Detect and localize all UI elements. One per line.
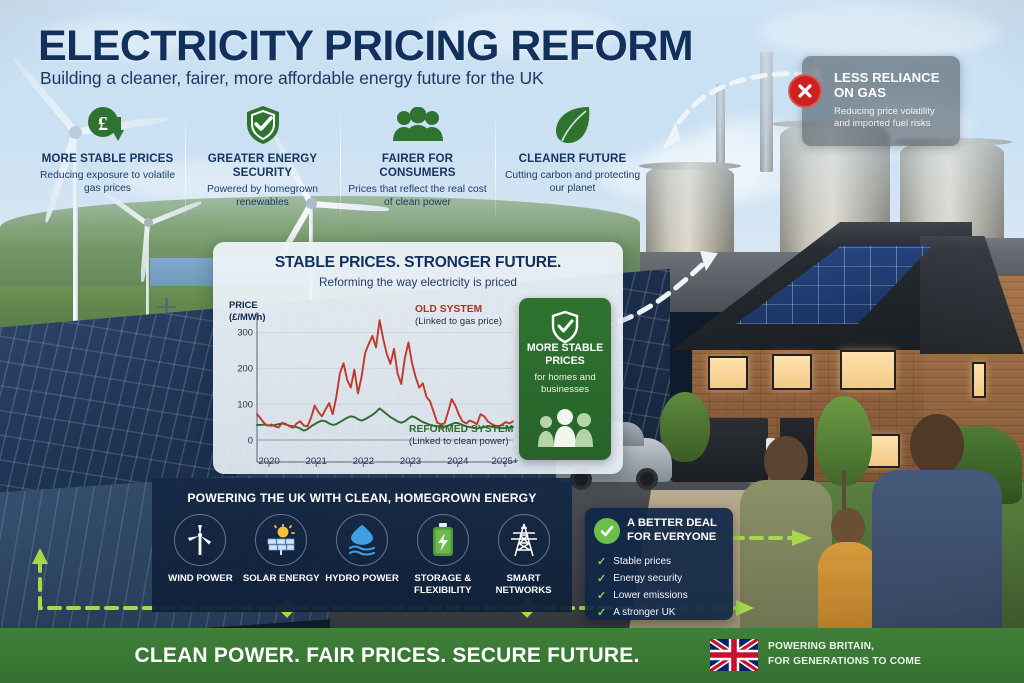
- benefit-title: FAIRER FOR CONSUMERS: [346, 152, 489, 180]
- deal-item-label: Stable prices: [613, 556, 671, 567]
- list-item: ✓Energy security: [597, 570, 727, 587]
- benefit-card-energy-security[interactable]: GREATER ENERGY SECURITY Powered by homeg…: [185, 103, 340, 228]
- chart-y-tick: 0: [248, 435, 253, 446]
- chart-x-tick: 2025+: [492, 456, 519, 467]
- leaf-icon: [501, 103, 644, 147]
- page-subtitle: Building a cleaner, fairer, more afforda…: [40, 68, 544, 89]
- chart-title: STABLE PRICES. STRONGER FUTURE.: [213, 254, 623, 272]
- gas-callout-title: LESS RELIANCE ON GAS: [834, 70, 952, 100]
- power-item-hydro[interactable]: HYDRO POWER: [322, 514, 403, 596]
- benefit-title: MORE STABLE PRICES: [36, 152, 179, 166]
- deal-list: ✓Stable prices ✓Energy security ✓Lower e…: [597, 553, 727, 621]
- deal-item-label: A stronger UK: [613, 607, 675, 618]
- power-item-label: STORAGE & FLEXIBILITY: [402, 573, 483, 596]
- gas-callout-desc: Reducing price volatility and imported f…: [834, 106, 953, 131]
- chart-x-tick: 2021: [306, 456, 327, 467]
- people-group-icon: [346, 103, 489, 147]
- chart-plot-area: 0100200300202020212022202320242025+: [257, 318, 513, 440]
- chart-panel: STABLE PRICES. STRONGER FUTURE. Reformin…: [213, 242, 623, 474]
- family-icon: [535, 409, 595, 452]
- power-item-label: SMART NETWORKS: [483, 573, 564, 596]
- chart-y-tick: 300: [237, 327, 253, 338]
- power-item-label: SOLAR ENERGY: [241, 573, 322, 585]
- benefit-card-fairer-consumers[interactable]: FAIRER FOR CONSUMERS Prices that reflect…: [340, 103, 495, 228]
- infographic-root: ELECTRICITY PRICING REFORM Building a cl…: [0, 0, 1024, 683]
- deal-item-label: Energy security: [613, 573, 682, 584]
- power-item-wind[interactable]: WIND POWER: [160, 514, 241, 596]
- check-icon: ✓: [597, 606, 606, 619]
- powering-uk-bar: POWERING THE UK WITH CLEAN, HOMEGROWN EN…: [152, 478, 572, 612]
- check-icon: ✓: [597, 555, 606, 568]
- power-item-networks[interactable]: SMART NETWORKS: [483, 514, 564, 596]
- callout-desc: for homes and businesses: [519, 372, 611, 396]
- benefit-desc: Prices that reflect the real cost of cle…: [346, 183, 489, 209]
- benefit-card-cleaner-future[interactable]: CLEANER FUTURE Cutting carbon and protec…: [495, 103, 650, 228]
- union-jack-icon: [710, 639, 758, 671]
- check-icon: ✓: [597, 589, 606, 602]
- banner-side-text: POWERING BRITAIN, FOR GENERATIONS TO COM…: [768, 640, 921, 670]
- list-item: ✓Stable prices: [597, 553, 727, 570]
- better-deal-panel[interactable]: A BETTER DEAL FOR EVERYONE ✓Stable price…: [585, 508, 733, 620]
- legend-reformed-system: REFORMED SYSTEM (Linked to clean power): [409, 424, 514, 446]
- banner-side-line1: POWERING BRITAIN,: [768, 640, 921, 655]
- pylon-icon: [498, 514, 550, 566]
- benefit-desc: Powered by homegrown renewables: [191, 183, 334, 209]
- banner-side-line2: FOR GENERATIONS TO COME: [768, 655, 921, 670]
- deal-item-label: Lower emissions: [613, 590, 687, 601]
- power-item-label: WIND POWER: [160, 573, 241, 585]
- water-drop-icon: [336, 514, 388, 566]
- power-item-storage[interactable]: STORAGE & FLEXIBILITY: [402, 514, 483, 596]
- red-x-icon: [788, 74, 822, 108]
- less-reliance-on-gas-callout[interactable]: LESS RELIANCE ON GAS Reducing price vola…: [802, 56, 960, 146]
- bottom-banner: CLEAN POWER. FAIR PRICES. SECURE FUTURE.…: [0, 628, 1024, 683]
- list-item: ✓A stronger UK: [597, 604, 727, 621]
- page-title: ELECTRICITY PRICING REFORM: [38, 22, 693, 71]
- chart-y-tick: 100: [237, 399, 253, 410]
- power-bar-title: POWERING THE UK WITH CLEAN, HOMEGROWN EN…: [152, 491, 572, 505]
- chart-x-tick: 2020: [258, 456, 279, 467]
- benefit-desc: Cutting carbon and protecting our planet: [501, 169, 644, 195]
- chart-x-tick: 2023: [400, 456, 421, 467]
- shield-check-icon: [191, 103, 334, 147]
- benefits-row: £ MORE STABLE PRICES Reducing exposure t…: [30, 103, 650, 228]
- wind-turbine-icon: [174, 514, 226, 566]
- legend-old-system: OLD SYSTEM (Linked to gas price): [415, 304, 502, 326]
- list-item: ✓Lower emissions: [597, 587, 727, 604]
- check-icon: ✓: [597, 572, 606, 585]
- benefit-title: GREATER ENERGY SECURITY: [191, 152, 334, 180]
- power-item-label: HYDRO POWER: [322, 573, 403, 585]
- solar-panel-icon: [255, 514, 307, 566]
- battery-icon: [417, 514, 469, 566]
- chart-y-tick: 200: [237, 363, 253, 374]
- more-stable-prices-callout[interactable]: MORE STABLE PRICES for homes and busines…: [519, 298, 611, 460]
- chart-x-tick: 2022: [353, 456, 374, 467]
- benefit-title: CLEANER FUTURE: [501, 152, 644, 166]
- benefit-desc: Reducing exposure to volatile gas prices: [36, 169, 179, 195]
- chart-x-tick: 2024: [447, 456, 468, 467]
- benefit-card-stable-prices[interactable]: £ MORE STABLE PRICES Reducing exposure t…: [30, 103, 185, 228]
- power-item-solar[interactable]: SOLAR ENERGY: [241, 514, 322, 596]
- deal-panel-title: A BETTER DEAL FOR EVERYONE: [627, 517, 727, 544]
- pound-down-icon: £: [36, 103, 179, 147]
- shield-check-icon: [550, 310, 580, 349]
- svg-text:£: £: [98, 113, 108, 135]
- chart-subtitle: Reforming the way electricity is priced: [213, 275, 623, 289]
- green-check-icon: [594, 518, 620, 544]
